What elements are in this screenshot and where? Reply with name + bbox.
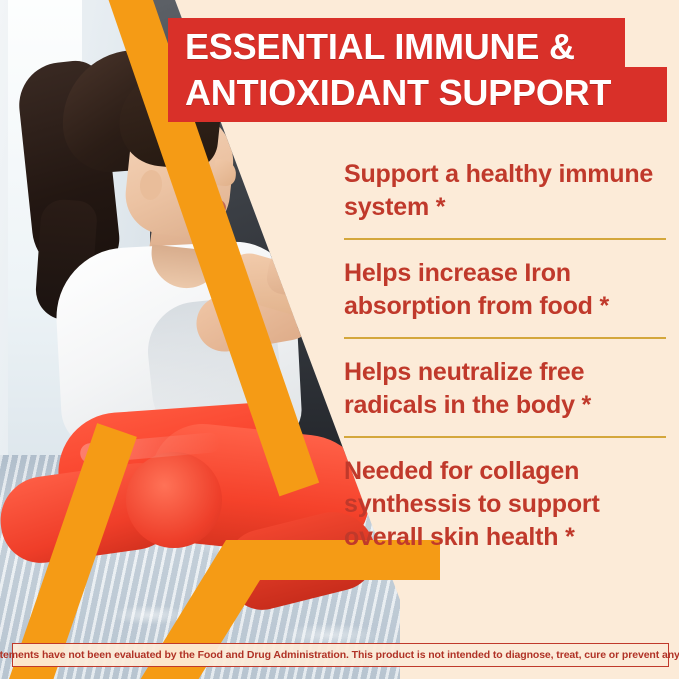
fda-disclaimer-text: These statements have not been evaluated… xyxy=(0,649,679,661)
headline-banner-inner: ESSENTIAL IMMUNE & ANTIOXIDANT SUPPORT xyxy=(185,24,655,116)
benefit-divider-2 xyxy=(344,337,666,339)
benefit-text-4: Needed for collagen synthessis to suppor… xyxy=(344,455,666,554)
benefit-divider-3 xyxy=(344,436,666,438)
benefit-divider-1 xyxy=(344,238,666,240)
benefit-item-4: Needed for collagen synthessis to suppor… xyxy=(344,455,666,554)
figure-knee xyxy=(126,452,222,548)
headline-line-2: ANTIOXIDANT SUPPORT xyxy=(185,70,655,116)
benefit-text-2: Helps increase Iron absorption from food… xyxy=(344,257,666,323)
benefit-item-1: Support a healthy immune system * xyxy=(344,158,666,224)
headline-line-1: ESSENTIAL IMMUNE & xyxy=(185,24,655,70)
benefits-list: Support a healthy immune system * Helps … xyxy=(344,158,666,554)
benefit-text-1: Support a healthy immune system * xyxy=(344,158,666,224)
benefit-text-3: Helps neutralize free radicals in the bo… xyxy=(344,356,666,422)
product-benefits-poster: ESSENTIAL IMMUNE & ANTIOXIDANT SUPPORT S… xyxy=(0,0,679,679)
headline-banner: ESSENTIAL IMMUNE & ANTIOXIDANT SUPPORT xyxy=(168,18,667,122)
benefit-item-3: Helps neutralize free radicals in the bo… xyxy=(344,356,666,422)
benefit-item-2: Helps increase Iron absorption from food… xyxy=(344,257,666,323)
fda-disclaimer-box: These statements have not been evaluated… xyxy=(12,643,669,667)
